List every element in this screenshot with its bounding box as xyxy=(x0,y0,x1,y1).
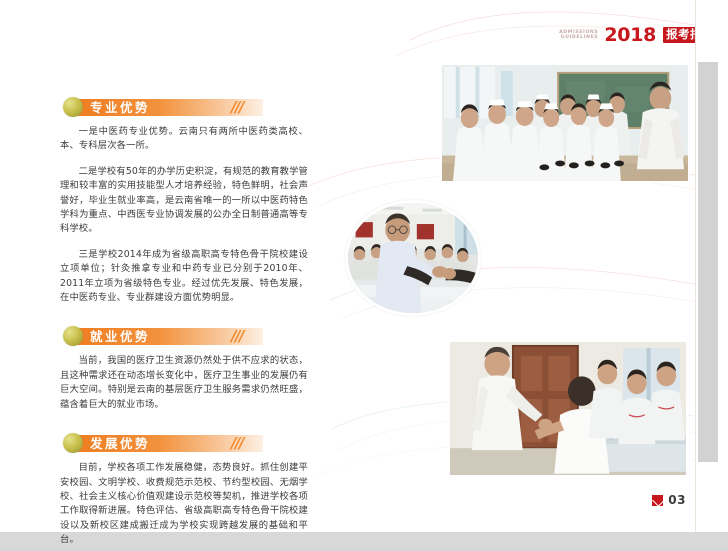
section-header-bar: 就业优势 /// xyxy=(63,325,308,347)
header-year: 2018 xyxy=(604,24,656,46)
section-title: 专业优势 xyxy=(90,99,150,116)
gutter-shadow-strip xyxy=(698,62,718,462)
paragraph: 目前，学校各项工作发展稳健，态势良好。抓住创建平安校园、文明学校、收费规范示范校… xyxy=(60,461,308,547)
content-column: 专业优势 /// 一是中医药专业优势。云南只有两所中医药类高校、本、专科层次各一… xyxy=(60,96,308,551)
triple-slash-icon: /// xyxy=(231,98,243,116)
photo-classroom-demonstration xyxy=(345,200,481,316)
triple-slash-icon: /// xyxy=(231,434,243,452)
section-header-bar: 专业优势 /// xyxy=(63,96,308,118)
section-title: 发展优势 xyxy=(90,435,150,452)
paragraph: 三是学校2014年成为省级高职高专特色骨干院校建设立项单位；针灸推拿专业和中药专… xyxy=(60,248,308,306)
page-marker-icon xyxy=(652,495,663,506)
photo-clinical-practice xyxy=(448,340,688,477)
sphere-bullet-icon xyxy=(63,97,83,117)
photo-bottom-artwork xyxy=(450,342,686,477)
paragraph: 当前，我国的医疗卫生资源仍然处于供不应求的状态，且这种需求还在动态增长变化中，医… xyxy=(60,354,308,412)
page-gutter xyxy=(695,0,728,532)
triple-slash-icon: /// xyxy=(231,327,243,345)
paragraph: 二是学校有50年的办学历史积淀，有规范的教育教学管理和较丰富的实用技能型人才培养… xyxy=(60,165,308,237)
section-employment-advantages: 就业优势 /// 当前，我国的医疗卫生资源仍然处于供不应求的状态，且这种需求还在… xyxy=(60,325,308,412)
page-header: ADMISSIONS GUIDELINES 2018 报考指南 xyxy=(560,24,717,46)
photo-circle-artwork xyxy=(348,203,478,314)
section-header-bar: 发展优势 /// xyxy=(63,432,308,454)
section-professional-advantages: 专业优势 /// 一是中医药专业优势。云南只有两所中医药类高校、本、专科层次各一… xyxy=(60,96,308,305)
page-number: 03 xyxy=(668,493,686,507)
header-english-line2: GUIDELINES xyxy=(559,35,598,41)
sphere-bullet-icon xyxy=(63,433,83,453)
brochure-page: ADMISSIONS GUIDELINES 2018 报考指南 专业优势 ///… xyxy=(0,0,728,532)
paragraph: 一是中医药专业优势。云南只有两所中医药类高校、本、专科层次各一所。 xyxy=(60,125,308,154)
photo-top-artwork xyxy=(442,65,688,183)
page-number-block: 03 xyxy=(652,493,686,507)
header-english-label: ADMISSIONS GUIDELINES xyxy=(560,30,597,41)
section-development-advantages: 发展优势 /// 目前，学校各项工作发展稳健，态势良好。抓住创建平安校园、文明学… xyxy=(60,432,308,547)
section-title: 就业优势 xyxy=(90,328,150,345)
photo-students-with-instructor xyxy=(440,63,690,183)
